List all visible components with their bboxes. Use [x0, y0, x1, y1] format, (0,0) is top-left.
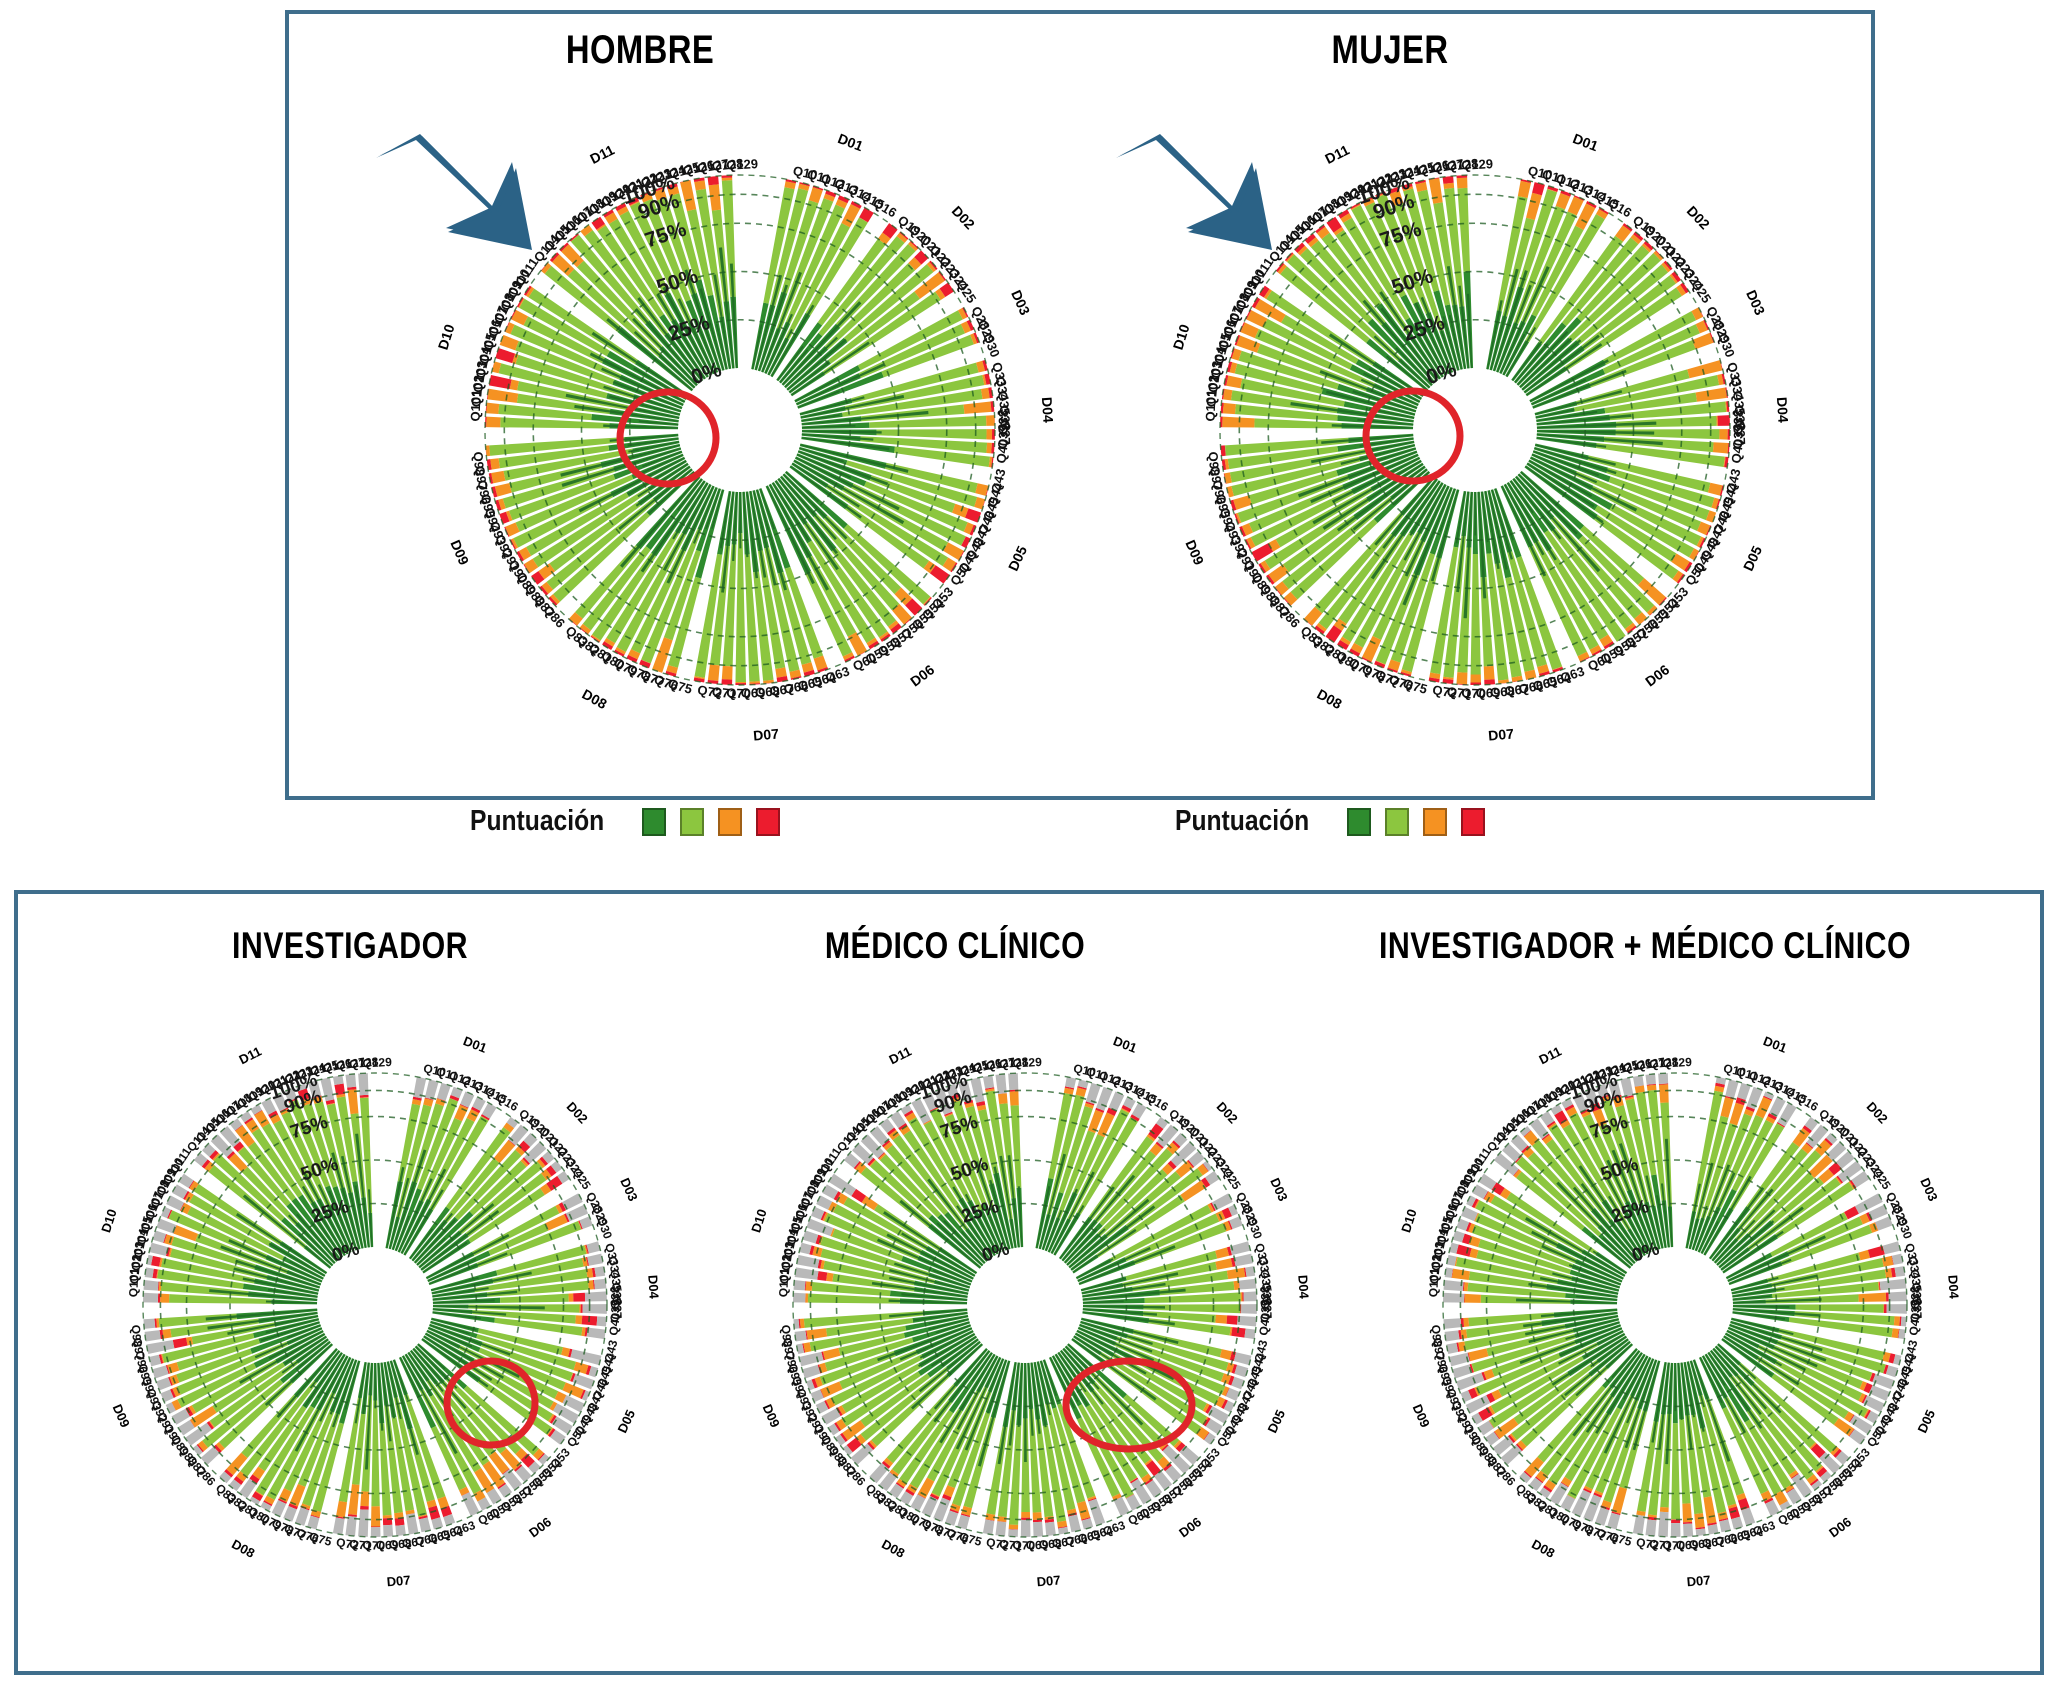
chart-title-hombre: HOMBRE — [476, 28, 804, 73]
domain-label: D07 — [753, 726, 780, 744]
domain-label: D01 — [1761, 1033, 1789, 1056]
radial-bar-segment — [1880, 1279, 1907, 1291]
radial-bar-segment — [371, 1527, 381, 1537]
radial-bar-segment — [160, 1294, 169, 1303]
radial-bar-segment — [1658, 1512, 1668, 1537]
radial-bar-segment — [1898, 1329, 1905, 1339]
question-label: Q72 — [1431, 682, 1458, 701]
figure-root: HOMBRE MUJER Q10Q11Q12Q13Q14Q15Q16Q19Q20… — [0, 0, 2055, 1685]
radial-bar-segment — [173, 1338, 188, 1349]
legend-swatch-1 — [1347, 808, 1371, 836]
radial-bar-segment — [383, 1525, 393, 1537]
domain-label: D11 — [236, 1044, 263, 1068]
radial-bar-segment — [1683, 1524, 1693, 1537]
domain-label: D11 — [587, 141, 617, 167]
radial-bar-segment — [162, 1329, 171, 1339]
radial-bar-segment — [1215, 1258, 1232, 1269]
domain-label: D04 — [1774, 397, 1792, 424]
radial-bar-segment — [1616, 429, 1720, 439]
radial-bar-segment — [486, 403, 499, 414]
domain-label: D01 — [1571, 130, 1601, 154]
radial-bar-segment — [983, 1519, 995, 1534]
radial-bar-segment — [348, 1484, 359, 1515]
radial-bar-segment — [360, 1506, 369, 1510]
radial-bar-segment — [1243, 1291, 1257, 1301]
radial-bar-segment — [583, 1304, 607, 1314]
question-label: Q40 — [1906, 1312, 1923, 1337]
radial-bar-segment — [709, 184, 721, 210]
radial-bar-segment — [371, 1401, 379, 1507]
radial-bar-segment — [793, 1293, 805, 1303]
radial-chart-investigador: Q10Q11Q12Q13Q14Q15Q16Q19Q20Q21Q22Q23Q24Q… — [55, 985, 695, 1625]
legend-swatch-4 — [1461, 808, 1485, 836]
domain-label: D05 — [1740, 543, 1765, 573]
question-label: Q16 — [1606, 195, 1635, 220]
radial-bar-segment — [1227, 1315, 1238, 1324]
radial-chart-hombre: Q10Q11Q12Q13Q14Q15Q16Q19Q20Q21Q22Q23Q24Q… — [390, 80, 1090, 780]
radial-chart-investigador-medico: Q10Q11Q12Q13Q14Q15Q16Q19Q20Q21Q22Q23Q24Q… — [1355, 985, 1995, 1625]
radial-bar-segment — [998, 1093, 1008, 1104]
radial-bar-segment — [395, 1525, 406, 1536]
radial-bar-segment — [1468, 1348, 1488, 1361]
question-label: Q98 — [779, 1324, 795, 1348]
domain-label: D06 — [1642, 661, 1672, 689]
domain-label: D10 — [435, 322, 458, 352]
domain-label: D09 — [760, 1402, 783, 1430]
legend-hombre: Puntuación — [470, 805, 780, 838]
radial-bar-segment — [802, 1230, 818, 1243]
radial-bar-segment — [1234, 1352, 1252, 1365]
radial-bar-segment — [823, 1348, 841, 1360]
radial-bar-segment — [487, 389, 518, 403]
radial-bar-segment — [575, 1315, 582, 1324]
domain-label: D08 — [579, 686, 609, 712]
radial-bar-segment — [1660, 1507, 1669, 1512]
domain-label: D07 — [386, 1572, 411, 1589]
radial-bar-segment — [1464, 1282, 1469, 1291]
domain-label: D02 — [949, 203, 978, 233]
domain-label: D01 — [836, 130, 866, 154]
radial-bar-segment — [797, 1255, 820, 1268]
radial-bar-segment — [1045, 1522, 1056, 1536]
radial-bar-segment — [491, 471, 505, 483]
radial-bar-segment — [143, 1293, 158, 1303]
radial-bar-segment — [333, 1075, 344, 1085]
radial-bar-segment — [1884, 1304, 1887, 1313]
radial-bar-segment — [1888, 1291, 1906, 1301]
radial-bar-segment — [1443, 1318, 1461, 1329]
radial-bar-segment — [149, 1243, 168, 1256]
radial-bar-segment — [573, 1293, 585, 1302]
radial-bar-segment — [145, 1330, 161, 1341]
radial-bar-segment — [1033, 1522, 1043, 1537]
question-label: Q16 — [1144, 1090, 1171, 1114]
radial-bar-segment — [735, 533, 746, 682]
radial-bar-segment — [1068, 1515, 1081, 1533]
radial-bar-segment — [1008, 1529, 1018, 1537]
legend-label: Puntuación — [1175, 805, 1309, 838]
radial-bar-segment — [1222, 417, 1254, 428]
radial-bar-segment — [1620, 1077, 1633, 1097]
domain-label: D02 — [1214, 1099, 1241, 1127]
radial-bar-segment — [1009, 1091, 1018, 1105]
question-label: Q40 — [993, 438, 1011, 464]
question-label: Q72 — [1635, 1535, 1660, 1553]
radial-bar-segment — [1858, 1250, 1870, 1260]
domain-label: D09 — [110, 1402, 133, 1430]
radial-bar-segment — [795, 1331, 807, 1342]
radial-bar-segment — [143, 1319, 155, 1329]
radial-bar-segment — [995, 1521, 1006, 1536]
question-label: Q40 — [606, 1312, 623, 1337]
radial-bar-segment — [581, 1304, 583, 1313]
chart-title-investigador-medico: INVESTIGADOR + MÉDICO CLÍNICO — [1321, 925, 1969, 967]
domain-label: D05 — [1005, 543, 1030, 573]
radial-bar-segment — [1796, 1304, 1884, 1313]
radial-bar-segment — [981, 388, 990, 399]
radial-bar-segment — [1215, 1315, 1227, 1324]
radial-bar-segment — [1226, 375, 1242, 388]
domain-label: D07 — [1488, 726, 1515, 744]
question-label: Q98 — [129, 1324, 145, 1348]
radial-bar-segment — [1471, 554, 1481, 675]
domain-label: D01 — [1111, 1033, 1139, 1056]
question-label: Q30 — [1715, 331, 1738, 359]
radial-bar-segment — [1220, 1349, 1232, 1360]
radial-bar-segment — [1470, 674, 1481, 682]
radial-bar-segment — [1230, 1241, 1251, 1255]
radial-bar-segment — [1234, 1254, 1253, 1267]
legend-swatch-4 — [756, 808, 780, 836]
radial-bar-segment — [1883, 1241, 1901, 1254]
question-label: Q129 — [726, 156, 759, 173]
domain-label: D06 — [1826, 1514, 1854, 1540]
legend-swatch-1 — [642, 808, 666, 836]
radial-bar-segment — [1518, 181, 1531, 198]
domain-label: D04 — [1295, 1274, 1312, 1300]
radial-bar-segment — [144, 1280, 159, 1291]
radial-bar-segment — [1215, 1247, 1229, 1258]
question-label: Q129 — [1461, 156, 1494, 173]
domain-label: D03 — [1917, 1176, 1941, 1204]
domain-label: D06 — [1176, 1514, 1204, 1540]
radial-bar-segment — [371, 1526, 380, 1527]
radial-bar-segment — [1708, 483, 1722, 496]
radial-bar-segment — [799, 1352, 824, 1367]
radial-bar-segment — [428, 1506, 440, 1520]
question-label: Q30 — [980, 331, 1003, 359]
radial-bar-segment — [360, 1095, 369, 1098]
radial-bar-segment — [1886, 1292, 1889, 1301]
legend-swatch-3 — [1423, 808, 1447, 836]
radial-bar-segment — [1713, 442, 1728, 453]
domain-label: D02 — [1864, 1099, 1891, 1127]
radial-bar-segment — [1008, 1073, 1018, 1090]
question-label: Q40 — [1728, 438, 1746, 464]
radial-bar-segment — [587, 1241, 601, 1253]
question-label: Q72 — [696, 682, 723, 701]
radial-bar-segment — [1456, 1245, 1471, 1257]
radial-chart-mujer: Q10Q11Q12Q13Q14Q15Q16Q19Q20Q21Q22Q23Q24Q… — [1125, 80, 1825, 780]
domain-label: D08 — [1529, 1536, 1557, 1561]
domain-label: D08 — [229, 1536, 257, 1561]
radial-bar-segment — [358, 1073, 368, 1095]
domain-label: D02 — [564, 1099, 591, 1127]
question-label: Q98 — [1205, 451, 1222, 477]
radial-bar-segment — [1696, 387, 1727, 401]
domain-label: D05 — [1915, 1407, 1939, 1435]
radial-bar-segment — [1694, 1513, 1705, 1528]
legend-swatch-3 — [718, 808, 742, 836]
domain-label: D06 — [907, 661, 937, 689]
radial-bar-segment — [383, 1515, 392, 1518]
radial-bar-segment — [1065, 1077, 1076, 1088]
radial-bar-segment — [1241, 1304, 1257, 1314]
radial-bar-segment — [371, 1506, 380, 1526]
radial-bar-segment — [1892, 1254, 1903, 1265]
chart-title-mujer: MUJER — [1226, 28, 1554, 73]
radial-chart-medico-clinico: Q10Q11Q12Q13Q14Q15Q16Q19Q20Q21Q22Q23Q24Q… — [705, 985, 1345, 1625]
radial-bar-segment — [1021, 1520, 1031, 1537]
question-label: Q16 — [871, 195, 900, 220]
radial-bar-segment — [413, 1077, 426, 1099]
radial-bar-segment — [800, 1319, 805, 1329]
radial-bar-segment — [1463, 1318, 1469, 1327]
radial-bar-segment — [1449, 1353, 1470, 1367]
radial-bar-segment — [333, 1517, 345, 1534]
radial-bar-segment — [336, 1501, 347, 1518]
radial-bar-segment — [802, 1365, 820, 1379]
radial-bar-segment — [347, 1089, 358, 1114]
domain-label: D05 — [1265, 1407, 1289, 1435]
radial-bar-segment — [1464, 1294, 1480, 1303]
question-label: Q72 — [985, 1535, 1010, 1553]
radial-bar-segment — [358, 1509, 369, 1537]
radial-bar-segment — [1457, 178, 1468, 189]
question-label: Q16 — [494, 1090, 521, 1114]
radial-bar-segment — [817, 1271, 827, 1281]
domain-label: D11 — [1536, 1044, 1563, 1068]
radial-bar-segment — [594, 1279, 606, 1289]
radial-bar-segment — [146, 1340, 174, 1354]
radial-bar-segment — [1718, 415, 1730, 426]
radial-bar-segment — [1858, 1293, 1886, 1302]
radial-bar-segment — [1647, 1085, 1657, 1091]
domain-label: D09 — [447, 537, 472, 567]
domain-label: D03 — [1267, 1176, 1291, 1204]
radial-bar-segment — [1741, 1507, 1755, 1525]
legend-label: Puntuación — [470, 805, 604, 838]
chart-title-investigador: INVESTIGADOR — [133, 925, 568, 967]
radial-bar-segment — [1658, 1073, 1668, 1084]
question-label: Q72 — [335, 1535, 360, 1553]
legend-swatch-2 — [1385, 808, 1409, 836]
radial-bar-segment — [1239, 1279, 1256, 1290]
domain-label: D03 — [617, 1176, 641, 1204]
domain-label: D10 — [98, 1207, 119, 1234]
radial-bar-segment — [1244, 1329, 1255, 1340]
radial-bar-segment — [986, 443, 992, 454]
question-label: Q129 — [362, 1055, 392, 1071]
radial-bar-segment — [1223, 403, 1236, 414]
domain-label: D01 — [461, 1033, 489, 1056]
radial-bar-segment — [1484, 666, 1495, 680]
domain-label: D07 — [1686, 1572, 1711, 1589]
domain-label: D07 — [1036, 1572, 1061, 1589]
question-label: Q40 — [1256, 1312, 1273, 1337]
radial-bar-segment — [1719, 429, 1727, 440]
radial-bar-segment — [1633, 1075, 1644, 1086]
radial-bar-segment — [1725, 1079, 1738, 1098]
radial-bar-segment — [1456, 672, 1467, 684]
radial-bar-segment — [1659, 1084, 1669, 1103]
chart-title-medico-clinico: MÉDICO CLÍNICO — [738, 925, 1173, 967]
radial-bar-segment — [152, 1365, 168, 1378]
question-label: Q16 — [1794, 1090, 1821, 1114]
radial-bar-segment — [1671, 1423, 1680, 1519]
radial-bar-segment — [495, 483, 512, 497]
domain-label: D08 — [879, 1536, 907, 1561]
domain-label: D06 — [526, 1514, 554, 1540]
radial-bar-segment — [795, 1267, 819, 1279]
domain-label: D09 — [1410, 1402, 1433, 1430]
radial-bar-segment — [587, 1328, 606, 1340]
radial-bar-segment — [1077, 1501, 1090, 1520]
domain-label: D11 — [1322, 141, 1352, 167]
radial-bar-segment — [775, 667, 787, 677]
question-label: Q98 — [470, 451, 487, 477]
radial-bar-segment — [1892, 1328, 1899, 1338]
domain-label: D04 — [1945, 1274, 1962, 1300]
domain-label: D04 — [1039, 397, 1057, 424]
radial-bar-segment — [1671, 1523, 1681, 1537]
radial-bar-segment — [1703, 1496, 1716, 1524]
radial-bar-segment — [597, 1316, 607, 1326]
radial-bar-segment — [877, 429, 987, 439]
radial-bar-segment — [1223, 389, 1232, 400]
domain-label: D11 — [886, 1044, 913, 1068]
legend-swatch-2 — [680, 808, 704, 836]
radial-bar-segment — [721, 679, 732, 685]
question-label: Q98 — [1429, 1324, 1445, 1348]
radial-bar-segment — [708, 664, 720, 681]
domain-label: D08 — [1314, 686, 1344, 712]
radial-bar-segment — [826, 1273, 833, 1282]
radial-bar-segment — [805, 1293, 808, 1302]
radial-bar-segment — [1645, 1074, 1655, 1085]
domain-label: D04 — [645, 1274, 662, 1300]
radial-bar-segment — [1645, 1519, 1656, 1536]
radial-bar-segment — [585, 1291, 607, 1301]
radial-bar-segment — [345, 1074, 356, 1088]
radial-bar-segment — [486, 417, 500, 428]
radial-bar-segment — [722, 666, 733, 680]
domain-label: D05 — [615, 1407, 639, 1435]
radial-bar-segment — [1445, 1330, 1460, 1341]
domain-label: D02 — [1684, 203, 1713, 233]
radial-bar-segment — [490, 458, 500, 469]
radial-bar-segment — [807, 1328, 828, 1339]
radial-bar-segment — [1452, 1364, 1472, 1378]
domain-label: D03 — [1008, 287, 1033, 317]
radial-bar-segment — [694, 180, 706, 190]
radial-bar-segment — [1721, 1097, 1734, 1118]
question-label: Q129 — [1012, 1055, 1042, 1071]
radial-bar-segment — [986, 429, 992, 440]
radial-bar-segment — [986, 415, 995, 426]
domain-label: D10 — [748, 1207, 769, 1234]
domain-label: D10 — [1170, 322, 1193, 352]
radial-bar-segment — [568, 1293, 573, 1301]
radial-bar-segment — [1429, 178, 1443, 204]
radial-bar-segment — [1452, 1269, 1470, 1280]
radial-bar-segment — [964, 401, 992, 413]
radial-bar-segment — [587, 1254, 603, 1266]
radial-bar-segment — [1021, 1512, 1030, 1518]
question-label: Q129 — [1662, 1055, 1692, 1071]
radial-bar-segment — [794, 1280, 806, 1290]
radial-bar-segment — [425, 1079, 439, 1099]
radial-bar-segment — [983, 1075, 994, 1088]
radial-bar-segment — [970, 1077, 984, 1102]
radial-bar-segment — [1009, 1524, 1018, 1529]
radial-bar-segment — [735, 682, 746, 683]
legend-mujer: Puntuación — [1175, 805, 1485, 838]
radial-bar-segment — [1894, 1316, 1900, 1326]
domain-label: D09 — [1182, 537, 1207, 567]
domain-label: D03 — [1743, 287, 1768, 317]
radial-bar-segment — [1446, 1343, 1458, 1354]
domain-label: D10 — [1398, 1207, 1419, 1234]
radial-bar-segment — [579, 1304, 580, 1313]
